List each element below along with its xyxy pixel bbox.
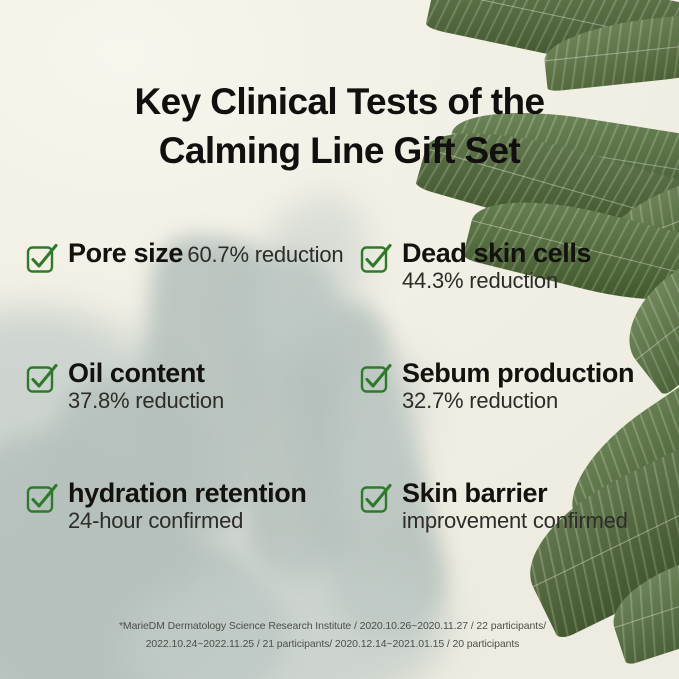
list-item-oil-content: Oil content 37.8% reduction — [26, 358, 360, 478]
list-item-sebum-production: Sebum production 32.7% reduction — [360, 358, 671, 478]
page-title-line-1: Key Clinical Tests of the — [0, 78, 679, 127]
poster-canvas: Key Clinical Tests of the Calming Line G… — [0, 0, 679, 679]
footnote-line-1: *MarieDM Dermatology Science Research In… — [0, 618, 665, 635]
clinical-test-list: Pore size 60.7% reduction Dead skin cell… — [26, 238, 671, 598]
page-title-line-2: Calming Line Gift Set — [0, 127, 679, 176]
checkbox-checked-icon — [360, 483, 391, 514]
list-item-subtitle: 32.7% reduction — [402, 388, 558, 413]
list-item-pore-size: Pore size 60.7% reduction — [26, 238, 360, 358]
list-item-subtitle: 24-hour confirmed — [68, 508, 243, 533]
list-item-title: Sebum production — [402, 358, 634, 388]
list-item-title: Oil content — [68, 358, 205, 388]
footnote: *MarieDM Dermatology Science Research In… — [0, 618, 665, 653]
list-item-title: hydration retention — [68, 478, 306, 508]
page-title: Key Clinical Tests of the Calming Line G… — [0, 78, 679, 176]
list-item-hydration-retention: hydration retention 24-hour confirmed — [26, 478, 360, 598]
list-item-title: Skin barrier — [402, 478, 547, 508]
checkbox-checked-icon — [26, 363, 57, 394]
checkbox-checked-icon — [26, 483, 57, 514]
list-item-title: Dead skin cells — [402, 238, 591, 268]
footnote-line-2: 2022.10.24~2022.11.25 / 21 participants/… — [0, 636, 665, 653]
checkbox-checked-icon — [360, 243, 391, 274]
list-item-subtitle: 60.7% reduction — [187, 242, 343, 267]
checkbox-checked-icon — [360, 363, 391, 394]
list-item-subtitle: improvement confirmed — [402, 508, 628, 533]
list-item-subtitle: 37.8% reduction — [68, 388, 224, 413]
list-item-title: Pore size — [68, 238, 183, 268]
checkbox-checked-icon — [26, 243, 57, 274]
list-item-skin-barrier: Skin barrier improvement confirmed — [360, 478, 671, 598]
list-item-subtitle: 44.3% reduction — [402, 268, 558, 293]
list-item-dead-skin-cells: Dead skin cells 44.3% reduction — [360, 238, 671, 358]
